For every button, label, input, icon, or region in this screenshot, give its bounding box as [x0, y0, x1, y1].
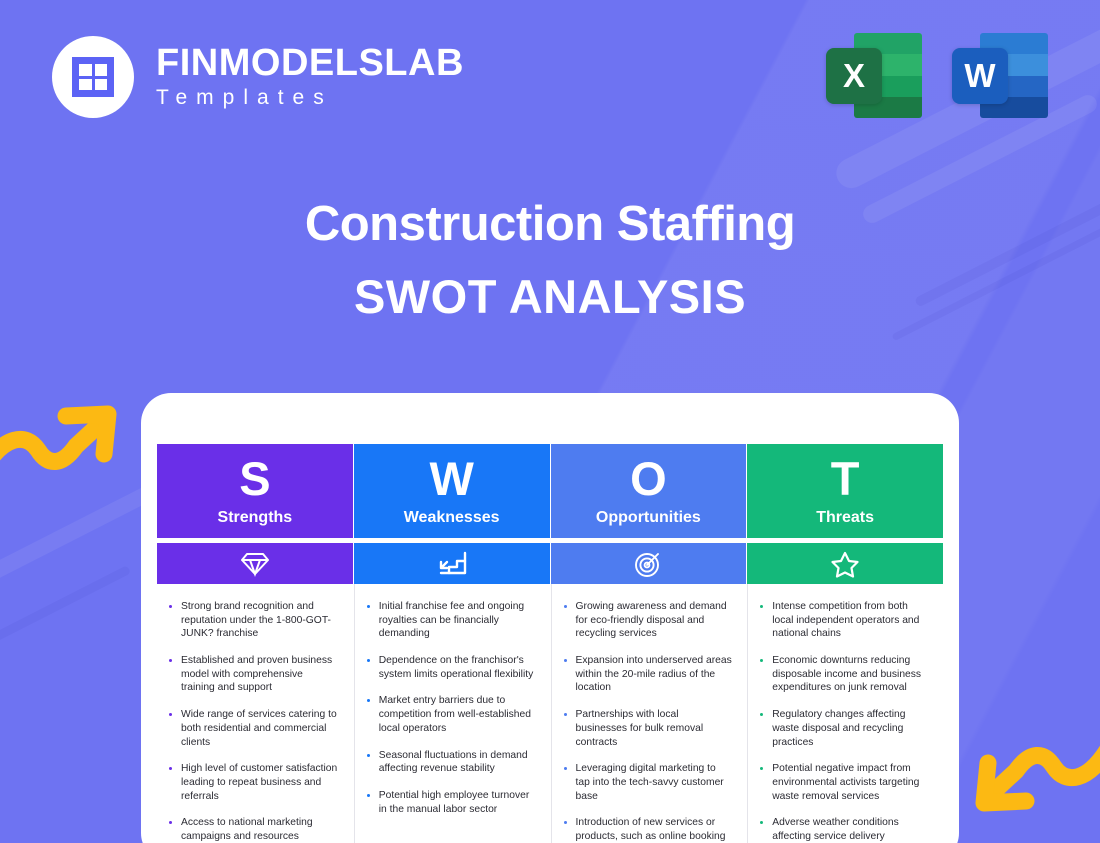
swot-body-threats: Intense competition from both local inde…: [747, 584, 943, 843]
swot-point: Economic downturns reducing disposable i…: [758, 654, 929, 695]
swot-point: Intense competition from both local inde…: [758, 600, 929, 641]
swot-header-threats[interactable]: T Threats: [747, 444, 943, 538]
swot-points-weaknesses: Initial franchise fee and ongoing royalt…: [365, 600, 536, 816]
excel-badge-letter: X: [826, 48, 882, 104]
brand-name-o: O: [251, 44, 281, 84]
page-subtitle: SWOT ANALYSIS: [0, 269, 1100, 324]
swot-point: High level of customer satisfaction lead…: [167, 762, 339, 803]
swot-point: Initial franchise fee and ongoing royalt…: [365, 600, 536, 641]
swot-table: S Strengths W Weaknesses O Opportunities…: [157, 444, 943, 843]
swot-point: Introduction of new services or products…: [562, 816, 733, 843]
brand-logo[interactable]: FINMODELSLAB Templates: [52, 36, 464, 118]
swot-points-threats: Intense competition from both local inde…: [758, 600, 929, 843]
header: FINMODELSLAB Templates X W: [0, 0, 1100, 150]
swot-letter-weaknesses: W: [429, 455, 473, 502]
brand-name: FINMODELSLAB: [156, 44, 464, 84]
swot-letter-threats: T: [831, 455, 860, 502]
grid-logo-icon: [72, 57, 114, 97]
swot-points-opportunities: Growing awareness and demand for eco-fri…: [562, 600, 733, 843]
slide-canvas: FINMODELSLAB Templates X W Construction …: [0, 0, 1100, 843]
word-badge-letter: W: [952, 48, 1008, 104]
swot-point: Dependence on the franchisor's system li…: [365, 654, 536, 681]
excel-icon[interactable]: X: [826, 30, 922, 122]
background-streak: [0, 565, 131, 664]
swot-letter-opportunities: O: [630, 455, 667, 502]
swot-point: Established and proven business model wi…: [167, 654, 339, 695]
swot-point: Seasonal fluctuations in demand affectin…: [365, 749, 536, 776]
brand-name-before: FINM: [156, 42, 251, 84]
swot-point: Regulatory changes affecting waste dispo…: [758, 708, 929, 749]
swot-label-opportunities: Opportunities: [596, 509, 701, 527]
swot-point: Wide range of services catering to both …: [167, 708, 339, 749]
swot-point: Potential negative impact from environme…: [758, 762, 929, 803]
swot-points-strengths: Strong brand recognition and reputation …: [167, 600, 339, 843]
swot-point: Market entry barriers due to competition…: [365, 694, 536, 735]
descending-stairs-icon: [354, 543, 550, 584]
swot-body-opportunities: Growing awareness and demand for eco-fri…: [551, 584, 747, 843]
page-title: Construction Staffing: [0, 196, 1100, 254]
swot-point: Access to national marketing campaigns a…: [167, 816, 339, 843]
swot-label-strengths: Strengths: [218, 509, 293, 527]
swot-point: Leveraging digital marketing to tap into…: [562, 762, 733, 803]
target-icon: [551, 543, 747, 584]
swot-point: Partnerships with local businesses for b…: [562, 708, 733, 749]
word-icon[interactable]: W: [952, 30, 1048, 122]
title-block: Construction Staffing SWOT ANALYSIS: [0, 196, 1100, 324]
format-icons: X W: [826, 30, 1048, 122]
swot-body-weaknesses: Initial franchise fee and ongoing royalt…: [354, 584, 550, 843]
squiggle-arrow-up-right-icon: [0, 396, 127, 482]
brand-name-after: DELSLAB: [281, 42, 464, 84]
swot-label-weaknesses: Weaknesses: [404, 509, 500, 527]
star-icon: [747, 543, 943, 584]
swot-label-threats: Threats: [816, 509, 874, 527]
brand-tagline: Templates: [156, 86, 464, 110]
squiggle-arrow-down-left-icon: [965, 735, 1100, 821]
swot-point: Growing awareness and demand for eco-fri…: [562, 600, 733, 641]
swot-letter-strengths: S: [239, 455, 270, 502]
swot-header-weaknesses[interactable]: W Weaknesses: [354, 444, 550, 538]
diamond-icon: [157, 543, 353, 584]
swot-card: S Strengths W Weaknesses O Opportunities…: [141, 393, 959, 843]
swot-body-strengths: Strong brand recognition and reputation …: [157, 584, 353, 843]
swot-point: Strong brand recognition and reputation …: [167, 600, 339, 641]
brand-text: FINMODELSLAB Templates: [156, 44, 464, 110]
swot-point: Potential high employee turnover in the …: [365, 789, 536, 816]
swot-header-strengths[interactable]: S Strengths: [157, 444, 353, 538]
logo-circle: [52, 36, 134, 118]
swot-point: Adverse weather conditions affecting ser…: [758, 816, 929, 843]
swot-header-opportunities[interactable]: O Opportunities: [551, 444, 747, 538]
swot-point: Expansion into underserved areas within …: [562, 654, 733, 695]
